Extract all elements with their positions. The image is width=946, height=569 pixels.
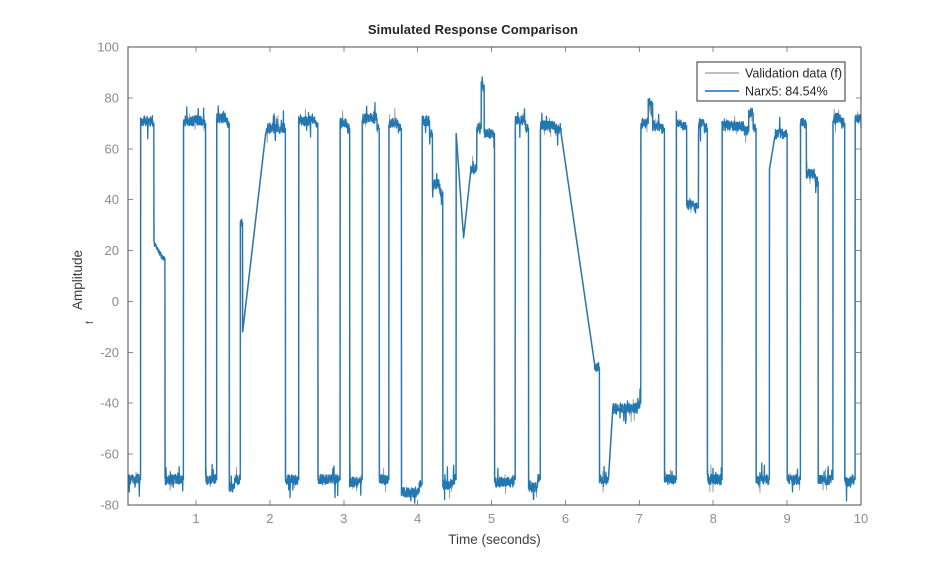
- x-tick-label: 5: [488, 511, 495, 526]
- y-tick-label: -60: [100, 447, 119, 462]
- y-tick-label: 60: [105, 141, 119, 156]
- x-axis-tick-labels: 12345678910: [192, 511, 868, 526]
- x-tick-label: 7: [636, 511, 643, 526]
- x-tick-label: 1: [192, 511, 199, 526]
- chart-legend[interactable]: Validation data (f)Narx5: 84.54%: [697, 62, 845, 101]
- y-tick-label: -80: [100, 498, 119, 513]
- legend-label: Validation data (f): [745, 67, 842, 81]
- y-tick-label: 100: [97, 40, 119, 55]
- figure-window: Simulated Response Comparison -80-60-40-…: [0, 0, 946, 569]
- x-tick-label: 4: [414, 511, 421, 526]
- y-axis-title: Amplitude: [70, 250, 85, 310]
- x-tick-label: 8: [710, 511, 717, 526]
- y-tick-label: -20: [100, 345, 119, 360]
- y-axis-tick-labels: -80-60-40-20020406080100: [97, 40, 119, 513]
- x-tick-label: 10: [854, 511, 868, 526]
- x-tick-label: 3: [340, 511, 347, 526]
- y-tick-label: 80: [105, 90, 119, 105]
- series-model-narx5: [128, 77, 861, 503]
- y-axis-title-subscript: f: [85, 321, 96, 324]
- chart-canvas: -80-60-40-20020406080100 12345678910 Val…: [0, 0, 946, 569]
- y-tick-label: 20: [105, 243, 119, 258]
- x-tick-label: 9: [783, 511, 790, 526]
- y-tick-label: -40: [100, 396, 119, 411]
- data-series-group: [128, 77, 861, 503]
- y-tick-label: 40: [105, 192, 119, 207]
- x-axis-title: Time (seconds): [448, 532, 541, 547]
- x-tick-label: 2: [266, 511, 273, 526]
- x-tick-label: 6: [562, 511, 569, 526]
- legend-label: Narx5: 84.54%: [745, 85, 828, 99]
- y-tick-label: 0: [112, 294, 119, 309]
